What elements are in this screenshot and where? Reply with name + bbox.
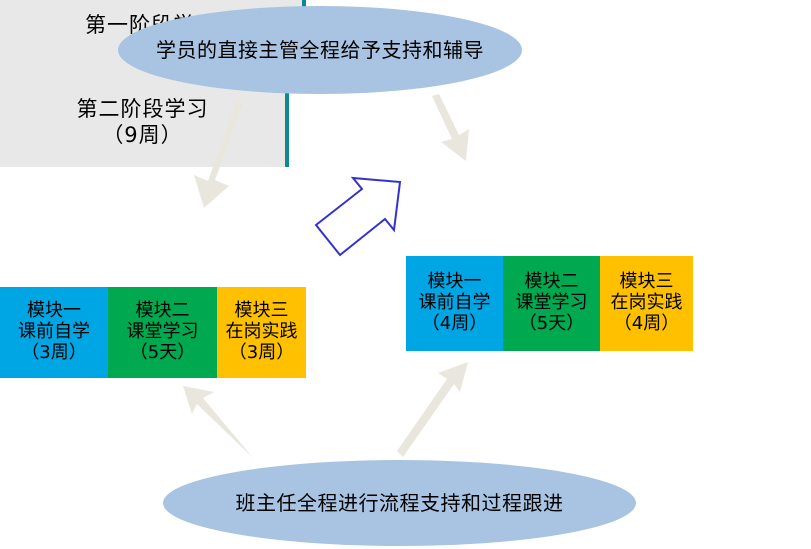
phase1-module-2-activity: 课堂学习 — [127, 322, 199, 343]
phase1-module-2[interactable]: 模块二 课堂学习 （5天） — [108, 287, 217, 378]
phase1-module-1-activity: 课前自学 — [18, 322, 90, 343]
phase1-module-3-name: 模块三 — [235, 301, 289, 322]
phase2-module-2-name: 模块二 — [525, 272, 579, 293]
phase1-module-3[interactable]: 模块三 在岗实践 （3周） — [217, 287, 306, 378]
phase2-module-2-duration: （5天） — [519, 314, 584, 335]
phase2-module-3-name: 模块三 — [620, 272, 674, 293]
phase1-module-2-name: 模块二 — [136, 301, 190, 322]
phase1-module-row: 模块一 课前自学 （3周） 模块二 课堂学习 （5天） 模块三 在岗实践 （3周… — [0, 287, 306, 378]
top-note-ellipse[interactable]: 学员的直接主管全程给予支持和辅导 — [118, 6, 522, 94]
phase2-module-row: 模块一 课前自学 （4周） 模块二 课堂学习 （5天） 模块三 在岗实践 （4周… — [406, 256, 693, 351]
phase2-module-1[interactable]: 模块一 课前自学 （4周） — [406, 256, 503, 351]
phase1-module-3-duration: （3周） — [229, 343, 294, 364]
arrow-phase1-to-phase2 — [316, 178, 400, 255]
phase2-module-1-activity: 课前自学 — [419, 293, 491, 314]
arrow-bottom-note-to-phase1 — [183, 386, 253, 458]
phase2-duration: （9周） — [102, 122, 182, 148]
phase1-module-1-duration: （3周） — [21, 343, 86, 364]
phase2-module-1-name: 模块一 — [428, 272, 482, 293]
diagram-canvas: 学员的直接主管全程给予支持和辅导 第一阶段学习 （7周） 模块一 课前自学 （3… — [0, 0, 811, 549]
top-note-text: 学员的直接主管全程给予支持和辅导 — [156, 38, 484, 62]
phase1-module-3-activity: 在岗实践 — [226, 322, 298, 343]
phase2-module-3[interactable]: 模块三 在岗实践 （4周） — [600, 256, 693, 351]
arrow-bottom-note-to-phase2 — [397, 362, 468, 457]
phase2-module-3-duration: （4周） — [614, 314, 679, 335]
phase2-title: 第二阶段学习 — [77, 96, 209, 122]
bottom-note-text: 班主任全程进行流程支持和过程跟进 — [236, 491, 564, 515]
arrow-top-note-to-phase2 — [432, 94, 469, 161]
phase1-module-1[interactable]: 模块一 课前自学 （3周） — [0, 287, 108, 378]
phase2-module-1-duration: （4周） — [422, 314, 487, 335]
bottom-note-ellipse[interactable]: 班主任全程进行流程支持和过程跟进 — [163, 460, 636, 546]
phase1-module-2-duration: （5天） — [130, 343, 195, 364]
phase2-module-2-activity: 课堂学习 — [516, 293, 588, 314]
phase2-module-3-activity: 在岗实践 — [611, 293, 683, 314]
phase1-module-1-name: 模块一 — [27, 301, 81, 322]
phase2-module-2[interactable]: 模块二 课堂学习 （5天） — [503, 256, 600, 351]
